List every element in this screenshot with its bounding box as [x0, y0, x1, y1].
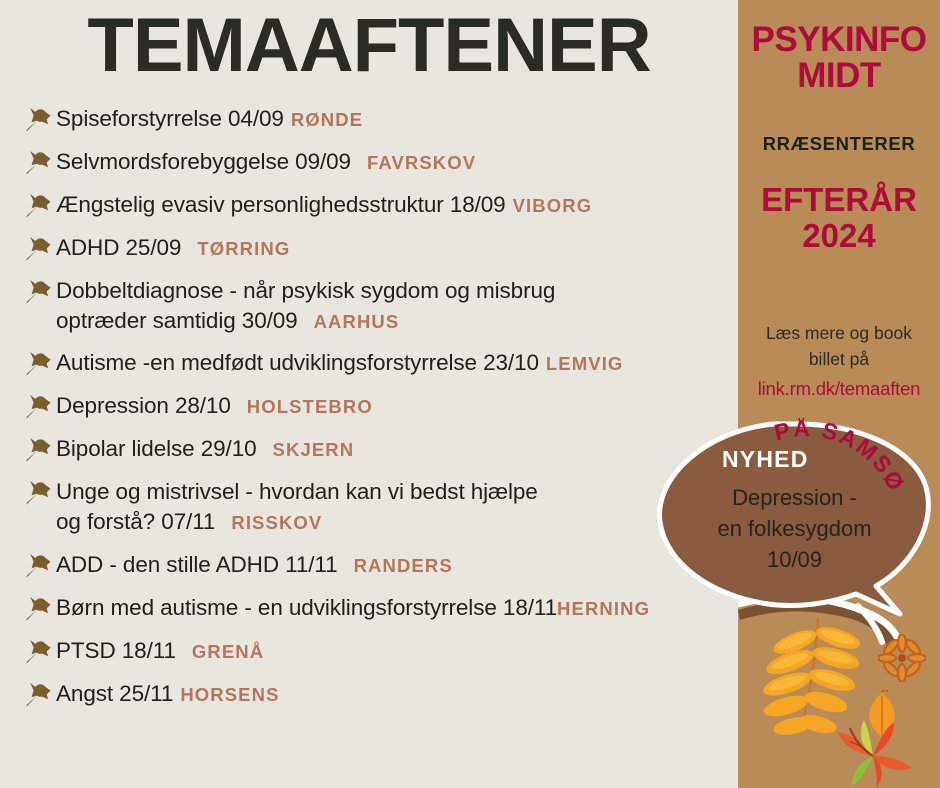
event-title: ADHD 25/09: [56, 235, 181, 260]
pushpin-icon: [24, 192, 54, 220]
season-line-2: 2024: [738, 218, 940, 254]
poster-root: PSYKINFO MIDT RRÆSENTERER EFTERÅR 2024 L…: [0, 0, 940, 788]
pushpin-icon: [24, 350, 54, 378]
event-text: Autisme -en medfødt udviklingsforstyrrel…: [54, 348, 623, 378]
booking-note-line-2: billet på: [738, 346, 940, 372]
bubble-body-text: Depression - en folkesygdom 10/09: [672, 482, 917, 576]
event-title: Angst 25/11: [56, 681, 173, 706]
event-title: Depression 28/10: [56, 393, 231, 418]
event-city: AARHUS: [314, 311, 400, 332]
event-text: Unge og mistrivsel - hvordan kan vi beds…: [54, 477, 538, 536]
event-title: Dobbeltdiagnose - når psykisk sygdom og …: [56, 278, 555, 303]
event-title-line-2: og forstå? 07/11RISSKOV: [56, 507, 538, 537]
pushpin-icon: [24, 106, 54, 134]
event-row[interactable]: Dobbeltdiagnose - når psykisk sygdom og …: [24, 276, 740, 335]
event-title: Ængstelig evasiv personlighedsstruktur 1…: [56, 192, 506, 217]
event-row[interactable]: Depression 28/10HOLSTEBRO: [24, 391, 740, 421]
event-text: ADHD 25/09TØRRING: [54, 233, 290, 263]
pushpin-icon: [24, 436, 54, 464]
event-row[interactable]: Autisme -en medfødt udviklingsforstyrrel…: [24, 348, 740, 378]
booking-url-link[interactable]: link.rm.dk/temaaften: [738, 378, 940, 400]
pushpin-icon: [24, 681, 54, 709]
pushpin-icon: [24, 479, 54, 507]
pushpin-icon: [24, 595, 54, 623]
event-text: Ængstelig evasiv personlighedsstruktur 1…: [54, 190, 592, 220]
event-text: Dobbeltdiagnose - når psykisk sygdom og …: [54, 276, 555, 335]
event-title: Spiseforstyrrelse 04/09: [56, 106, 284, 131]
event-city: TØRRING: [197, 238, 290, 259]
presenterer-label: RRÆSENTERER: [738, 133, 940, 155]
event-title-continuation: og forstå? 07/11: [56, 509, 215, 534]
event-city: FAVRSKOV: [367, 152, 476, 173]
event-row[interactable]: Unge og mistrivsel - hvordan kan vi beds…: [24, 477, 740, 536]
event-title: PTSD 18/11: [56, 638, 176, 663]
event-city: RANDERS: [354, 555, 453, 576]
bubble-badge-nyhed: NYHED: [722, 446, 809, 473]
booking-note-line-1: Læs mere og book: [738, 320, 940, 346]
event-text: ADD - den stille ADHD 11/11RANDERS: [54, 550, 453, 580]
pushpin-icon: [24, 552, 54, 580]
event-list: Spiseforstyrrelse 04/09RØNDESelvmordsfor…: [24, 104, 740, 722]
event-city: GRENÅ: [192, 641, 264, 662]
event-city: RØNDE: [291, 109, 363, 130]
season-block: EFTERÅR 2024: [738, 182, 940, 255]
brand-block: PSYKINFO MIDT: [738, 22, 940, 93]
event-row[interactable]: ADHD 25/09TØRRING: [24, 233, 740, 263]
event-city: HERNING: [557, 598, 650, 619]
page-title: TEMAAFTENER: [0, 8, 738, 84]
pushpin-icon: [24, 235, 54, 263]
season-line-1: EFTERÅR: [738, 182, 940, 218]
event-title: Unge og mistrivsel - hvordan kan vi beds…: [56, 479, 538, 504]
pushpin-icon: [24, 393, 54, 421]
event-row[interactable]: Ængstelig evasiv personlighedsstruktur 1…: [24, 190, 740, 220]
event-title: ADD - den stille ADHD 11/11: [56, 552, 338, 577]
event-title-line-2: optræder samtidig 30/09AARHUS: [56, 306, 555, 336]
event-title-continuation: optræder samtidig 30/09: [56, 308, 298, 333]
event-row[interactable]: Angst 25/11HORSENS: [24, 679, 740, 709]
pushpin-icon: [24, 149, 54, 177]
bubble-line-3: 10/09: [672, 544, 917, 575]
pushpin-icon: [24, 638, 54, 666]
bubble-line-2: en folkesygdom: [672, 513, 917, 544]
event-row[interactable]: Selvmordsforebyggelse 09/09FAVRSKOV: [24, 147, 740, 177]
news-speech-bubble: NYHED PÅ SAMSØ Depression - en folkesygd…: [650, 418, 940, 648]
event-title: Autisme -en medfødt udviklingsforstyrrel…: [56, 350, 539, 375]
brand-line-2: MIDT: [738, 58, 940, 94]
event-row[interactable]: ADD - den stille ADHD 11/11RANDERS: [24, 550, 740, 580]
event-row[interactable]: Børn med autisme - en udviklingsforstyrr…: [24, 593, 740, 623]
event-city: RISSKOV: [231, 512, 322, 533]
pushpin-icon: [24, 278, 54, 306]
event-text: Angst 25/11HORSENS: [54, 679, 280, 709]
bubble-line-1: Depression -: [672, 482, 917, 513]
brand-line-1: PSYKINFO: [738, 22, 940, 58]
event-text: Selvmordsforebyggelse 09/09FAVRSKOV: [54, 147, 476, 177]
event-city: VIBORG: [513, 195, 593, 216]
event-title: Børn med autisme - en udviklingsforstyrr…: [56, 595, 557, 620]
event-text: Spiseforstyrrelse 04/09RØNDE: [54, 104, 363, 134]
event-text: Bipolar lidelse 29/10SKJERN: [54, 434, 354, 464]
event-city: LEMVIG: [546, 353, 624, 374]
event-row[interactable]: PTSD 18/11GRENÅ: [24, 636, 740, 666]
booking-note: Læs mere og book billet på: [738, 320, 940, 373]
event-city: HORSENS: [180, 684, 279, 705]
event-text: Børn med autisme - en udviklingsforstyrr…: [54, 593, 650, 623]
event-title: Selvmordsforebyggelse 09/09: [56, 149, 351, 174]
event-city: SKJERN: [273, 439, 355, 460]
palmate-leaf-icon: [828, 718, 918, 788]
event-text: Depression 28/10HOLSTEBRO: [54, 391, 373, 421]
event-city: HOLSTEBRO: [247, 396, 373, 417]
event-row[interactable]: Bipolar lidelse 29/10SKJERN: [24, 434, 740, 464]
event-title: Bipolar lidelse 29/10: [56, 436, 257, 461]
event-text: PTSD 18/11GRENÅ: [54, 636, 264, 666]
event-row[interactable]: Spiseforstyrrelse 04/09RØNDE: [24, 104, 740, 134]
